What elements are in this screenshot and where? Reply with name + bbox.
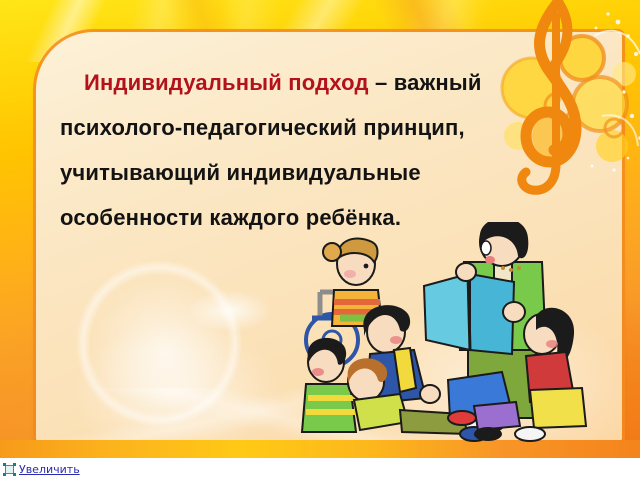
slide-bottom-band	[0, 440, 640, 458]
slide-text-line-3: учитывающий индивидуальные	[60, 150, 606, 195]
slide-text-line-1-rest: – важный	[369, 70, 482, 95]
slide-text-block: Индивидуальный подход – важный психолого…	[36, 60, 622, 240]
slide-text-line-2: психолого-педагогический принцип,	[60, 105, 606, 150]
slide-text-line-4: особенности каждого ребёнка.	[60, 195, 606, 240]
enlarge-link[interactable]: Увеличить	[19, 463, 80, 476]
enlarge-link-bar: Увеличить	[0, 458, 640, 480]
image-placeholder-icon	[3, 463, 16, 476]
highlighted-term: Индивидуальный подход	[84, 70, 369, 95]
slide-text-line-1: Индивидуальный подход – важный	[60, 60, 606, 105]
screenshot-root: Индивидуальный подход – важный психолого…	[0, 0, 640, 480]
presentation-slide: Индивидуальный подход – важный психолого…	[0, 0, 640, 458]
children-reading-illustration	[290, 222, 590, 442]
